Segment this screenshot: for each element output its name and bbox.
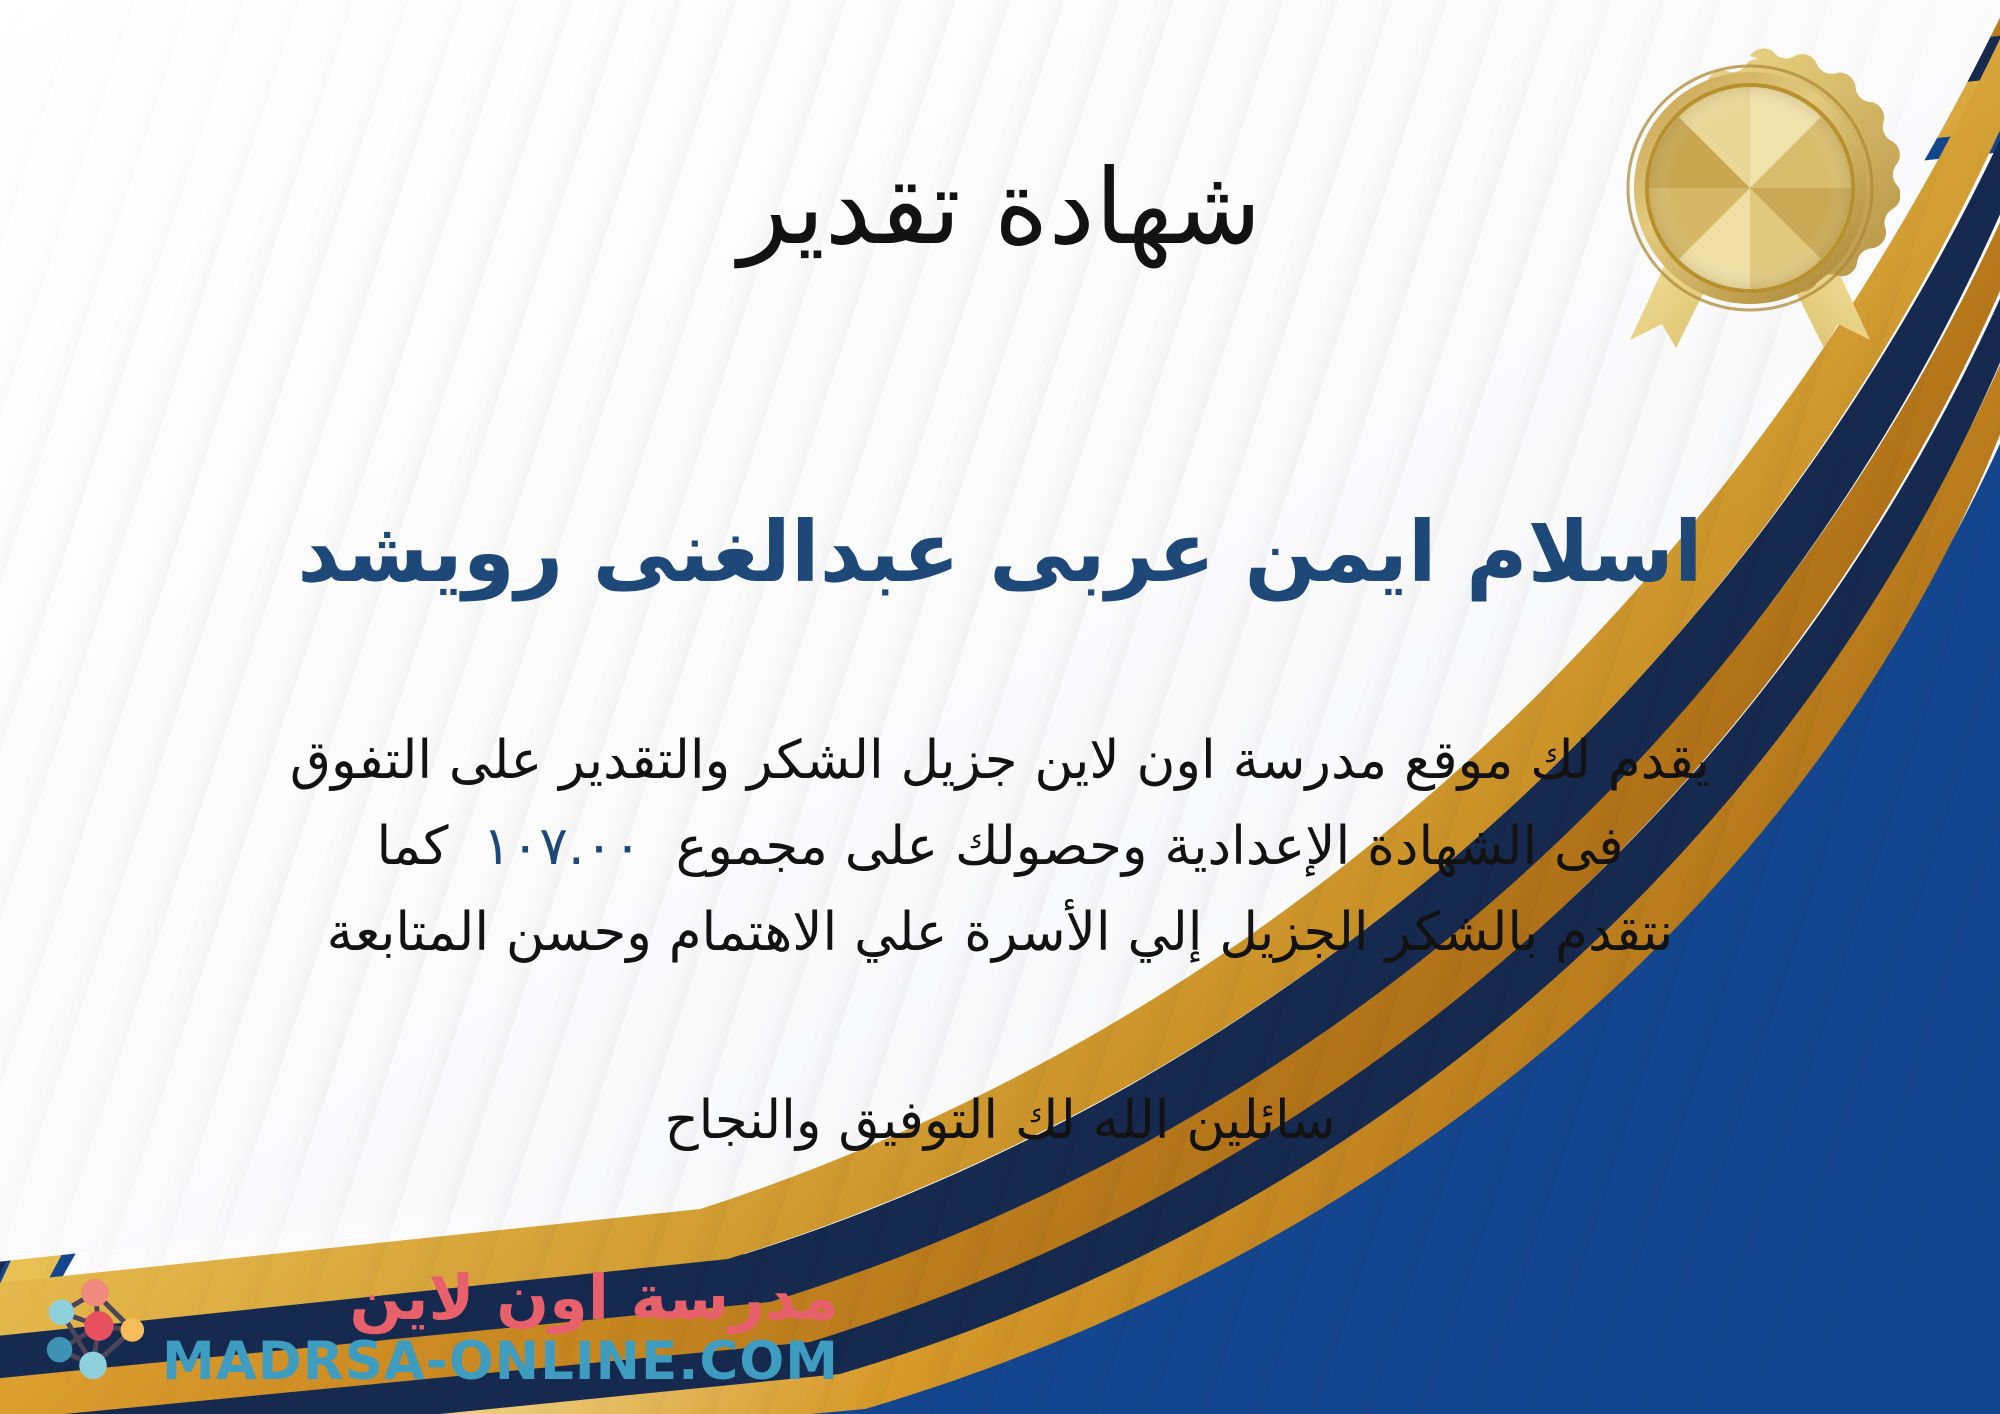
score-value: ١٠٧.٠٠	[449, 816, 676, 877]
certificate-body: يقدم لك موقع مدرسة اون لاين جزيل الشكر و…	[60, 718, 1940, 976]
gold-award-rosette-icon	[1600, 48, 1900, 348]
certificate-card: شهادة تقدير اسلام ايمن عربى عبدالغنى روي…	[0, 0, 2000, 1414]
network-nodes-icon	[34, 1269, 152, 1387]
brand-website[interactable]: MADRSA-ONLINE.COM	[162, 1335, 839, 1388]
body-line-1: يقدم لك موقع مدرسة اون لاين جزيل الشكر و…	[60, 718, 1940, 804]
recipient-name: اسلام ايمن عربى عبدالغنى رويشد	[0, 500, 2000, 605]
brand-arabic-name: مدرسة اون لاين	[349, 1267, 839, 1329]
body-line-2-suffix: كما	[376, 816, 448, 877]
brand-text: مدرسة اون لاين MADRSA-ONLINE.COM	[162, 1267, 839, 1388]
body-line-2-prefix: فى الشهادة الإعدادية وحصولك على مجموع	[676, 816, 1624, 877]
body-line-3: نتقدم بالشكر الجزيل إلي الأسرة علي الاهت…	[60, 890, 1940, 976]
brand-logo[interactable]: مدرسة اون لاين MADRSA-ONLINE.COM	[34, 1267, 839, 1388]
body-line-2: فى الشهادة الإعدادية وحصولك على مجموع١٠٧…	[60, 804, 1940, 890]
closing-line: سائلين الله لك التوفيق والنجاح	[0, 1090, 2000, 1151]
